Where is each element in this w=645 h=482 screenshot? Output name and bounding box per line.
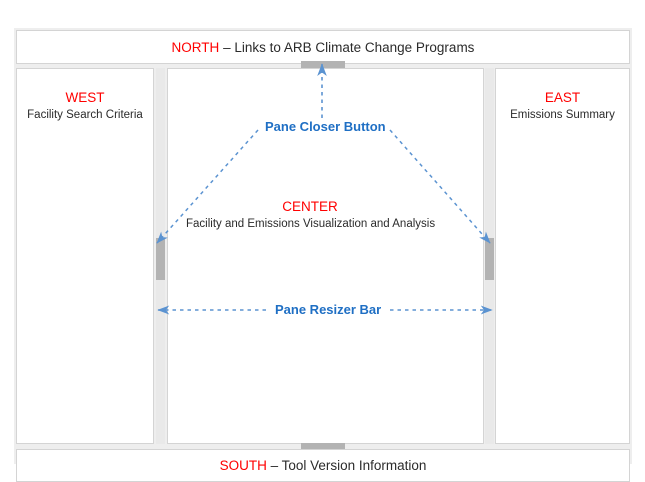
east-pane[interactable]: EAST Emissions Summary	[495, 68, 630, 444]
north-region-tag: NORTH	[172, 40, 220, 55]
south-separator: –	[267, 458, 282, 473]
south-pane[interactable]: SOUTH – Tool Version Information	[16, 449, 630, 482]
east-region-tag: EAST	[496, 89, 629, 107]
south-pane-caption: SOUTH – Tool Version Information	[220, 458, 427, 473]
north-separator: –	[219, 40, 234, 55]
west-pane-resizer-bar[interactable]	[156, 68, 165, 444]
center-pane-caption: CENTER Facility and Emissions Visualizat…	[186, 198, 434, 232]
west-pane[interactable]: WEST Facility Search Criteria	[16, 68, 154, 444]
center-description: Facility and Emissions Visualization and…	[186, 216, 434, 232]
west-region-tag: WEST	[17, 89, 153, 107]
east-pane-closer-handle[interactable]	[485, 238, 494, 280]
south-description: Tool Version Information	[282, 458, 427, 473]
east-description: Emissions Summary	[496, 107, 629, 123]
pane-resizer-bar-label: Pane Resizer Bar	[272, 302, 384, 317]
application-frame: NORTH – Links to ARB Climate Change Prog…	[14, 28, 632, 464]
south-region-tag: SOUTH	[220, 458, 267, 473]
pane-closer-button-label: Pane Closer Button	[262, 119, 389, 134]
north-pane[interactable]: NORTH – Links to ARB Climate Change Prog…	[16, 30, 630, 64]
north-pane-closer-handle[interactable]	[301, 61, 345, 68]
west-description: Facility Search Criteria	[17, 107, 153, 123]
north-description: Links to ARB Climate Change Programs	[234, 40, 474, 55]
east-pane-resizer-bar[interactable]	[485, 68, 494, 444]
north-pane-caption: NORTH – Links to ARB Climate Change Prog…	[172, 40, 475, 55]
center-region-tag: CENTER	[186, 198, 434, 216]
west-pane-closer-handle[interactable]	[156, 238, 165, 280]
